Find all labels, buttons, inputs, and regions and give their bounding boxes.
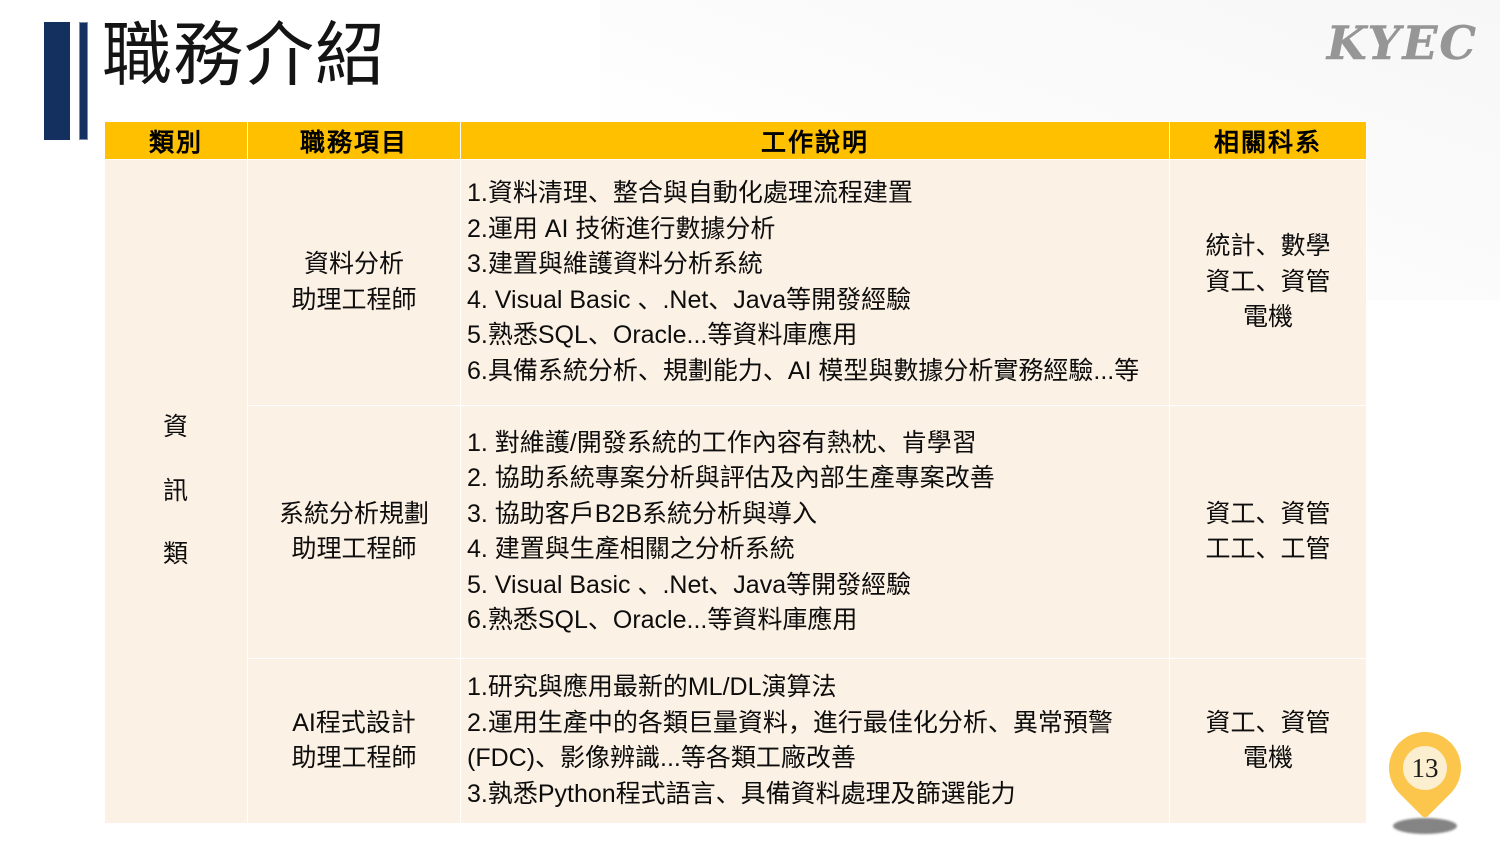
cell-description: 1. 對維護/開發系統的工作內容有熱枕、肯學習 2. 協助系統專案分析與評估及內… [461, 406, 1170, 659]
cell-description: 1.資料清理、整合與自動化處理流程建置 2.運用 AI 技術進行數據分析 3.建… [461, 160, 1170, 406]
page-number-pin: 13 [1382, 732, 1468, 836]
cell-description: 1.研究與應用最新的ML/DL演算法 2.運用生產中的各類巨量資料，進行最佳化分… [461, 659, 1170, 824]
table-header-row: 類別 職務項目 工作說明 相關科系 [105, 122, 1367, 160]
page-number: 13 [1403, 746, 1447, 790]
title-accent-bar-thick [44, 22, 70, 140]
kyec-logo: KYEC [1327, 16, 1478, 70]
page-title: 職務介紹 [102, 20, 386, 90]
column-header-description: 工作說明 [461, 122, 1170, 160]
cell-category: 資 訊 類 [105, 160, 248, 824]
table-row: AI程式設計 助理工程師 1.研究與應用最新的ML/DL演算法 2.運用生產中的… [105, 659, 1367, 824]
cell-departments: 資工、資管 電機 [1170, 659, 1367, 824]
table-row: 資 訊 類 資料分析 助理工程師 1.資料清理、整合與自動化處理流程建置 2.運… [105, 160, 1367, 406]
cell-departments: 資工、資管 工工、工管 [1170, 406, 1367, 659]
slide-canvas: 職務介紹 KYEC 類別 職務項目 工作說明 相關科系 資 訊 類 資料分析 助… [0, 0, 1500, 844]
cell-job-title: AI程式設計 助理工程師 [248, 659, 461, 824]
column-header-departments: 相關科系 [1170, 122, 1367, 160]
table-row: 系統分析規劃 助理工程師 1. 對維護/開發系統的工作內容有熱枕、肯學習 2. … [105, 406, 1367, 659]
cell-job-title: 資料分析 助理工程師 [248, 160, 461, 406]
cell-departments: 統計、數學 資工、資管 電機 [1170, 160, 1367, 406]
pin-shadow [1393, 818, 1457, 834]
cell-job-title: 系統分析規劃 助理工程師 [248, 406, 461, 659]
column-header-category: 類別 [105, 122, 248, 160]
job-description-table: 類別 職務項目 工作說明 相關科系 資 訊 類 資料分析 助理工程師 1.資料清… [104, 121, 1367, 824]
column-header-job-title: 職務項目 [248, 122, 461, 160]
title-accent-bar-thin [79, 22, 88, 140]
